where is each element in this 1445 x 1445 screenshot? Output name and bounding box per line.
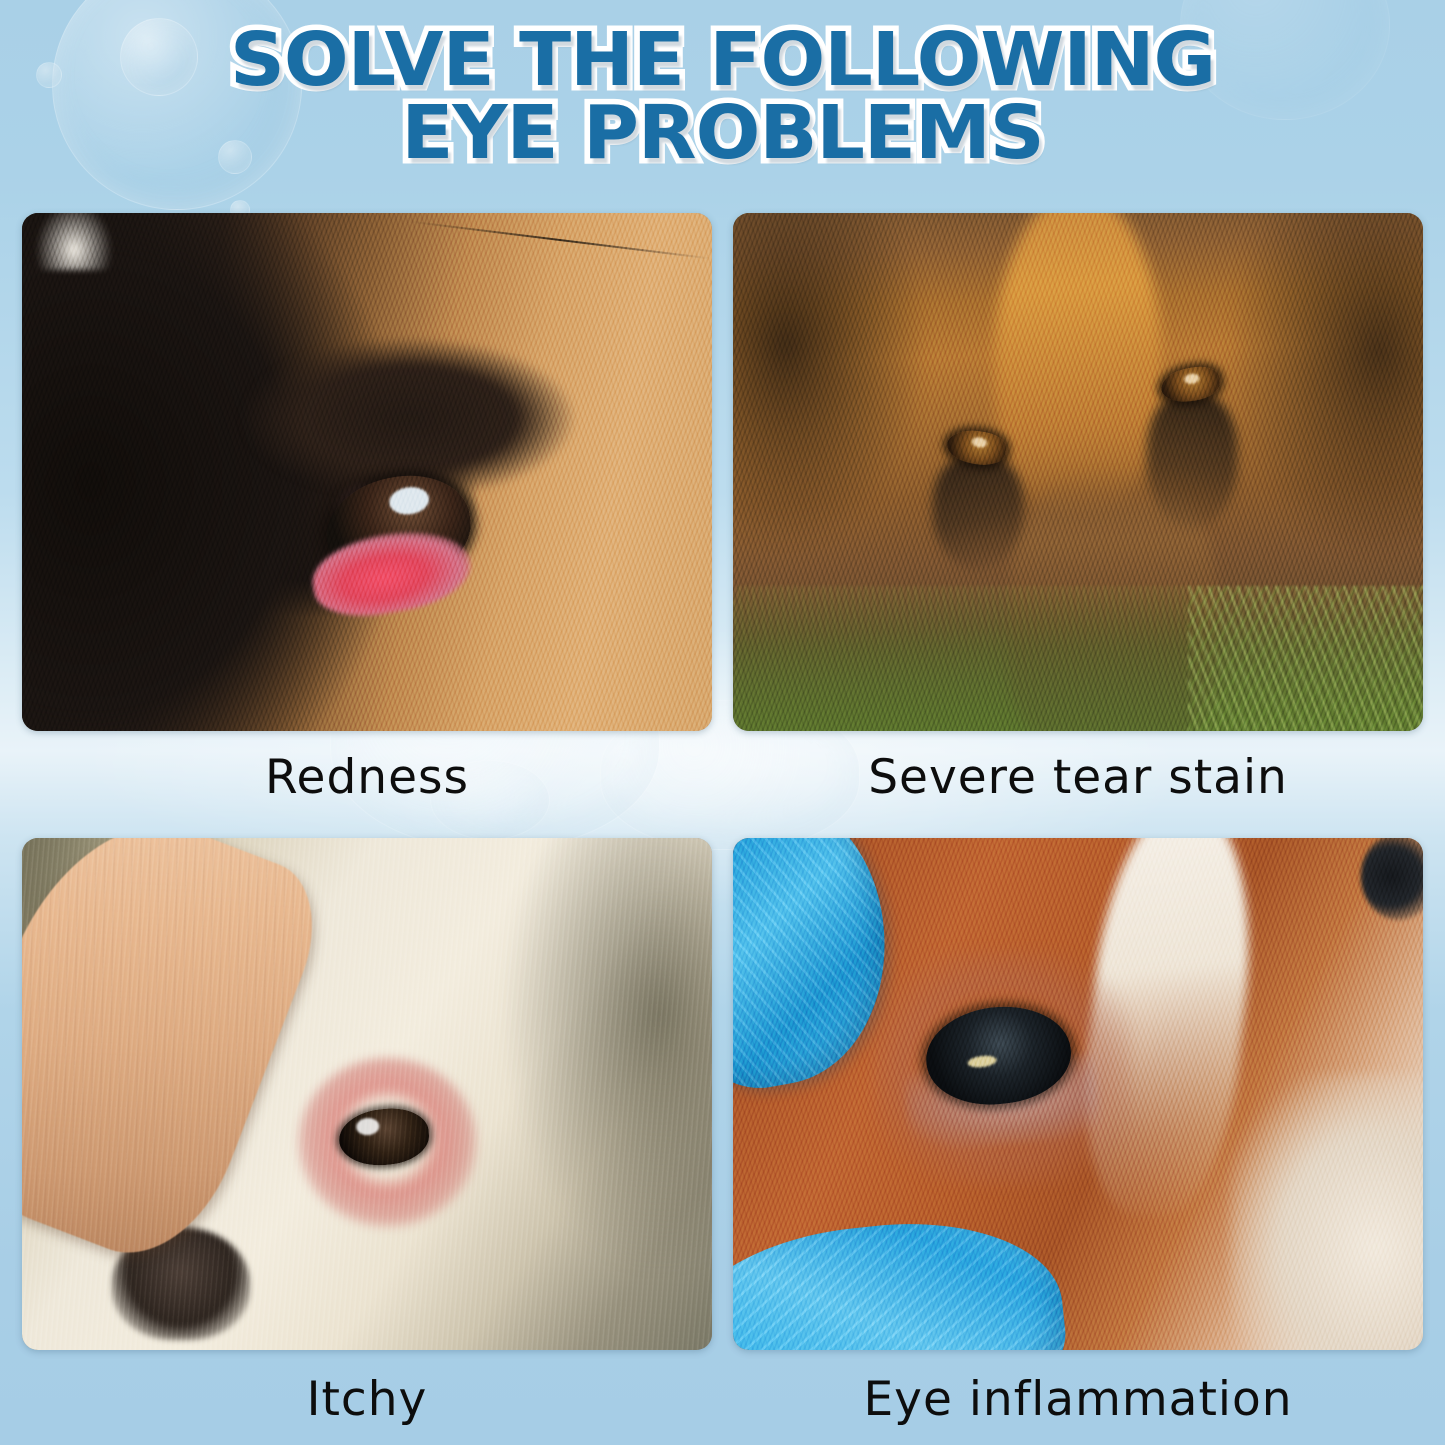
photo-severe-tear-stain (733, 213, 1423, 731)
photo-fur-texture (22, 213, 712, 731)
photo-redness (22, 213, 712, 731)
photo-itchy (22, 838, 712, 1350)
photo-fur-texture (733, 838, 1423, 1350)
problem-grid (0, 0, 1445, 1445)
problem-card-eye-inflammation (733, 838, 1423, 1350)
caption-eye-inflammation: Eye inflammation (733, 1372, 1423, 1427)
photo-eye-inflammation (733, 838, 1423, 1350)
problem-card-severe-tear-stain (733, 213, 1423, 731)
caption-severe-tear-stain: Severe tear stain (733, 750, 1423, 805)
photo-fur-texture (733, 213, 1423, 731)
caption-redness: Redness (22, 750, 712, 805)
problem-card-redness (22, 213, 712, 731)
caption-itchy: Itchy (22, 1372, 712, 1427)
photo-fur-texture (22, 838, 712, 1350)
problem-card-itchy (22, 838, 712, 1350)
